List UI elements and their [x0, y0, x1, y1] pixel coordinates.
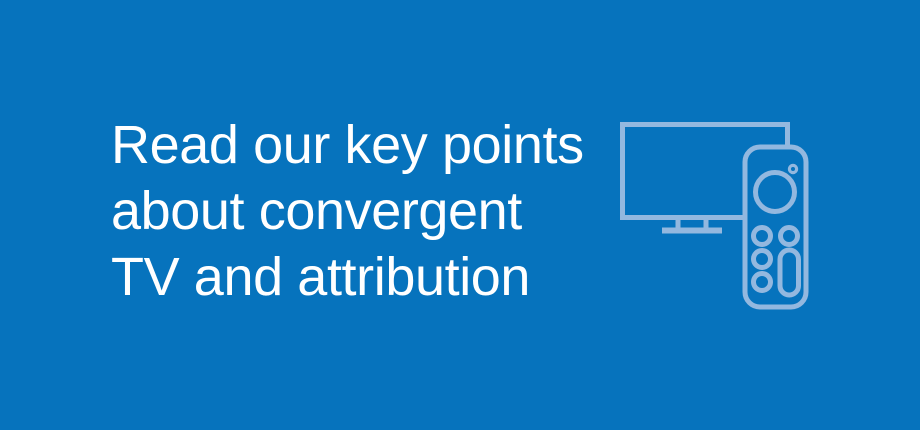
remote-button-power-icon	[781, 228, 798, 245]
tv-and-remote-svg	[608, 108, 820, 318]
remote-button-home-icon	[754, 274, 771, 291]
headline-line-3: TV and attribution	[111, 244, 611, 310]
headline-line-2: about convergent	[111, 178, 611, 244]
tv-and-remote-illustration	[608, 108, 820, 318]
remote-button-menu-icon	[754, 251, 771, 268]
page-title: Read our key points about convergent TV …	[111, 112, 611, 310]
promo-banner[interactable]: Read our key points about convergent TV …	[0, 0, 920, 430]
remote-button-back-icon	[754, 228, 771, 245]
remote-volume-rocker-icon	[780, 250, 799, 295]
remote-led-icon	[789, 165, 796, 172]
headline-line-1: Read our key points	[111, 112, 611, 178]
tv-screen-icon	[623, 125, 788, 218]
